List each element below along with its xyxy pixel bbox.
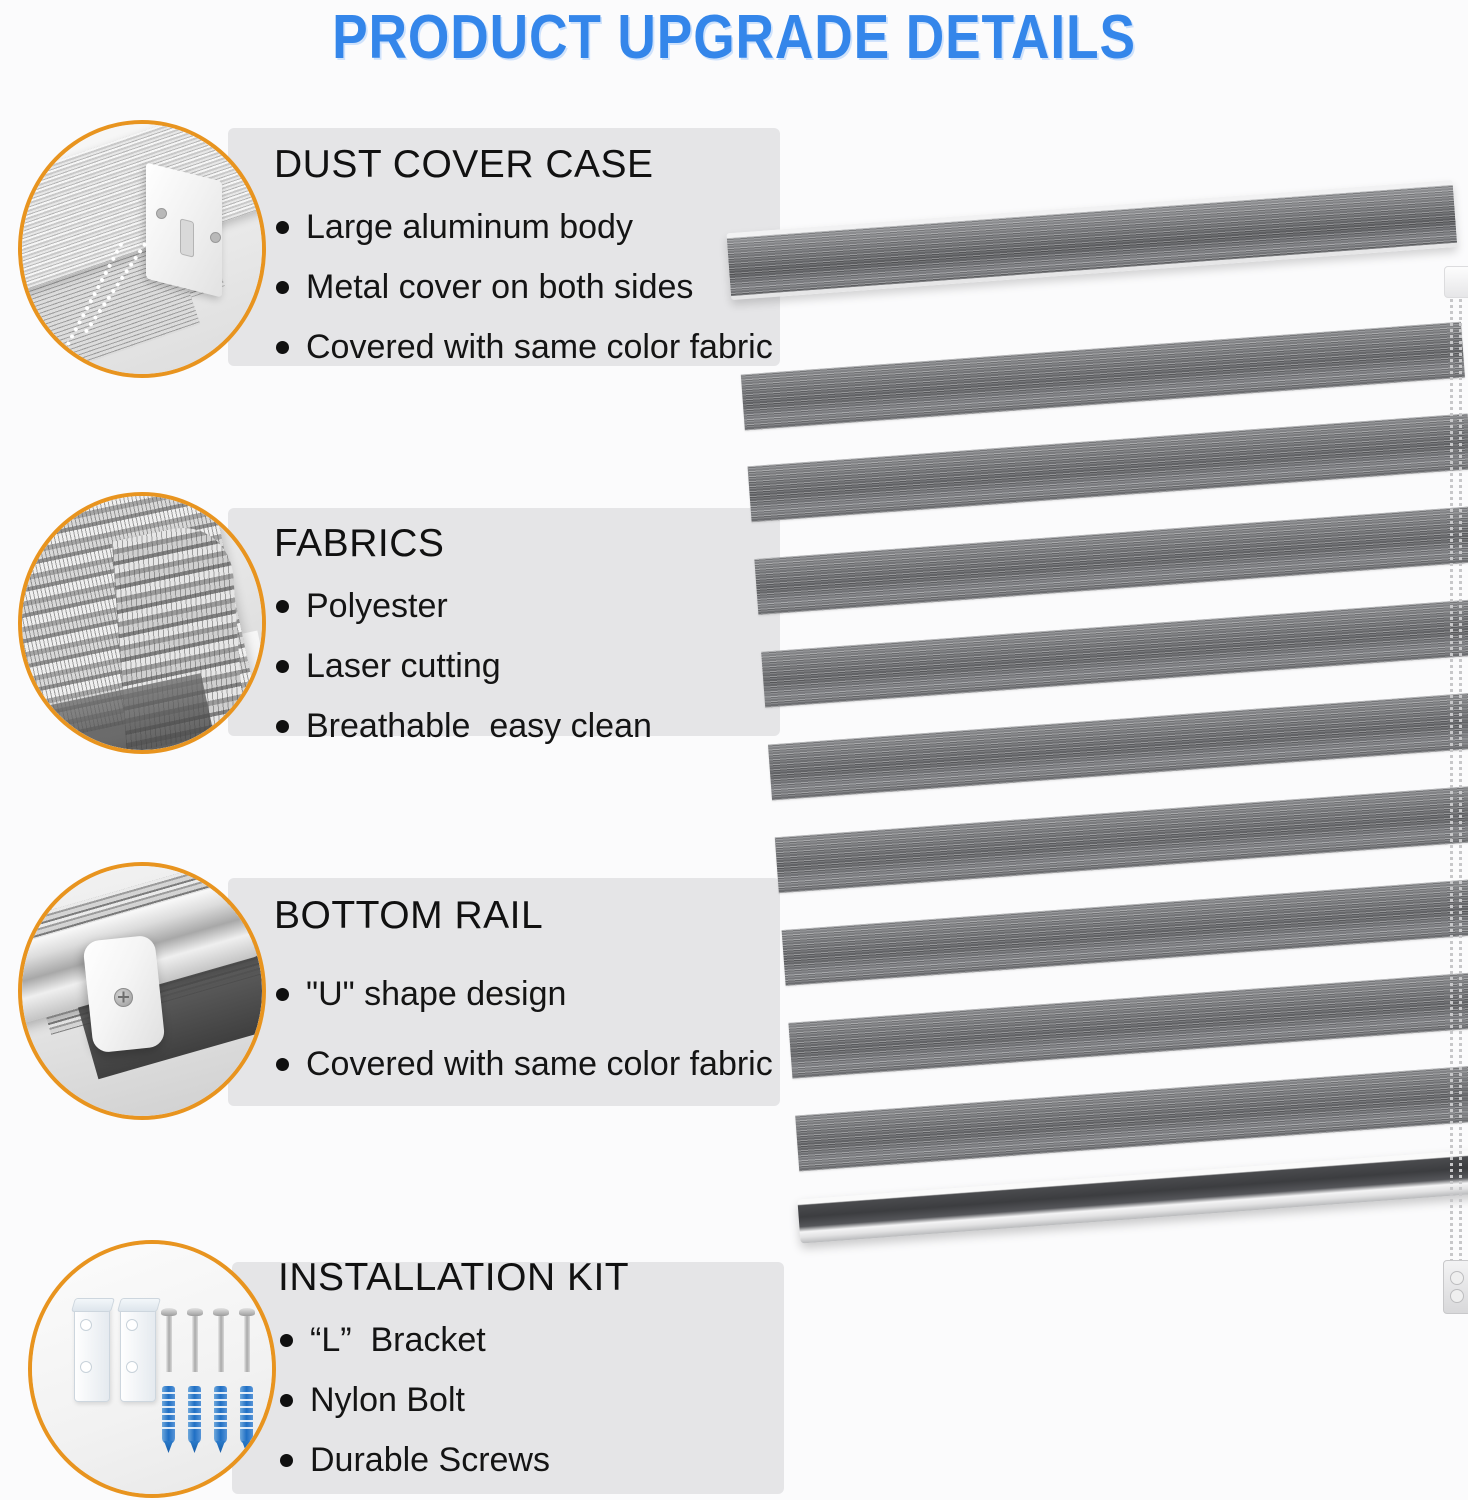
bullet-dot-icon xyxy=(276,720,289,733)
screw-icon xyxy=(192,1314,198,1372)
blind-stripe xyxy=(761,599,1468,708)
bullet-dot-icon xyxy=(276,221,289,234)
bullet-dot-icon xyxy=(276,600,289,613)
list-item-label: Durable Screws xyxy=(310,1441,550,1479)
feature-heading: BOTTOM RAIL xyxy=(274,896,794,935)
list-item-label: Nylon Bolt xyxy=(310,1381,465,1419)
blind-stripe xyxy=(782,877,1468,986)
bullet-dot-icon xyxy=(276,341,289,354)
bullet-dot-icon xyxy=(276,988,289,1001)
list-item-label: "U" shape design xyxy=(306,975,566,1013)
bead-chain[interactable] xyxy=(1448,270,1462,1310)
list-item: Durable Screws xyxy=(278,1443,798,1477)
blind-stripe xyxy=(768,692,1468,801)
screw-icon xyxy=(166,1314,172,1372)
chain-tensioner-icon xyxy=(1443,1260,1468,1314)
feature-bullet-list: “L” Bracket Nylon Bolt Durable Screws xyxy=(278,1323,798,1477)
list-item-label: Covered with same color fabric xyxy=(306,328,773,366)
blind-stripe xyxy=(754,506,1468,615)
feature-text-block: BOTTOM RAIL "U" shape design Covered wit… xyxy=(274,896,794,1081)
l-bracket-icon xyxy=(74,1304,110,1402)
feature-heading: DUST COVER CASE xyxy=(274,145,794,184)
page-title: PRODUCT UPGRADE DETAILS xyxy=(103,2,1365,73)
product-upgrade-infographic: PRODUCT UPGRADE DETAILS xyxy=(0,0,1468,1500)
list-item: Metal cover on both sides xyxy=(274,270,794,304)
blind-stripe xyxy=(795,1063,1468,1172)
wall-anchor-icon xyxy=(162,1386,175,1444)
list-item-label: Covered with same color fabric xyxy=(306,1045,773,1083)
list-item: Covered with same color fabric xyxy=(274,330,794,364)
cassette-headrail-photo xyxy=(18,120,266,378)
bullet-dot-icon xyxy=(280,1334,293,1347)
chain-roller-icon xyxy=(1444,266,1468,298)
list-item: Polyester xyxy=(274,589,794,623)
list-item: Nylon Bolt xyxy=(278,1383,798,1417)
blind-stripe xyxy=(788,970,1468,1079)
blind-headrail xyxy=(726,180,1457,300)
bullet-dot-icon xyxy=(276,660,289,673)
feature-text-block: INSTALLATION KIT “L” Bracket Nylon Bolt … xyxy=(278,1258,798,1477)
list-item: Large aluminum body xyxy=(274,210,794,244)
zebra-roller-blind-photo xyxy=(716,228,1468,1298)
list-item: "U" shape design xyxy=(274,977,794,1011)
feature-heading: FABRICS xyxy=(274,524,794,563)
bullet-dot-icon xyxy=(280,1454,293,1467)
bead-chain-cord xyxy=(1459,270,1462,1310)
bottom-rail-endcap-photo xyxy=(18,862,266,1120)
screw-icon xyxy=(244,1314,250,1372)
zebra-fabric-swatch-photo xyxy=(18,492,266,754)
list-item-label: Large aluminum body xyxy=(306,208,633,246)
wall-anchor-icon xyxy=(240,1386,253,1444)
feature-bullet-list: Large aluminum body Metal cover on both … xyxy=(274,210,794,364)
blind-stripe xyxy=(775,784,1468,893)
feature-text-block: DUST COVER CASE Large aluminum body Meta… xyxy=(274,145,794,364)
bead-chain-cord xyxy=(1450,270,1453,1310)
list-item: Covered with same color fabric xyxy=(274,1047,794,1081)
list-item-label: “L” Bracket xyxy=(310,1321,486,1359)
feature-text-block: FABRICS Polyester Laser cutting Breathab… xyxy=(274,524,794,743)
blind-panel xyxy=(716,173,1468,1255)
bullet-dot-icon xyxy=(280,1394,293,1407)
installation-hardware-photo xyxy=(28,1240,276,1498)
bullet-dot-icon xyxy=(276,281,289,294)
feature-bullet-list: Polyester Laser cutting Breathable easy … xyxy=(274,589,794,743)
blind-stripe xyxy=(741,322,1465,431)
wall-anchor-icon xyxy=(188,1386,201,1444)
bullet-dot-icon xyxy=(276,1058,289,1071)
list-item: “L” Bracket xyxy=(278,1323,798,1357)
list-item: Breathable easy clean xyxy=(274,709,794,743)
list-item-label: Breathable easy clean xyxy=(306,707,652,745)
list-item-label: Metal cover on both sides xyxy=(306,268,693,306)
l-bracket-icon xyxy=(120,1304,156,1402)
feature-heading: INSTALLATION KIT xyxy=(278,1258,798,1297)
screw-icon xyxy=(218,1314,224,1372)
blind-stripe xyxy=(748,413,1468,522)
wall-anchor-icon xyxy=(214,1386,227,1444)
list-item: Laser cutting xyxy=(274,649,794,683)
list-item-label: Laser cutting xyxy=(306,647,501,685)
list-item-label: Polyester xyxy=(306,587,448,625)
feature-bullet-list: "U" shape design Covered with same color… xyxy=(274,977,794,1081)
